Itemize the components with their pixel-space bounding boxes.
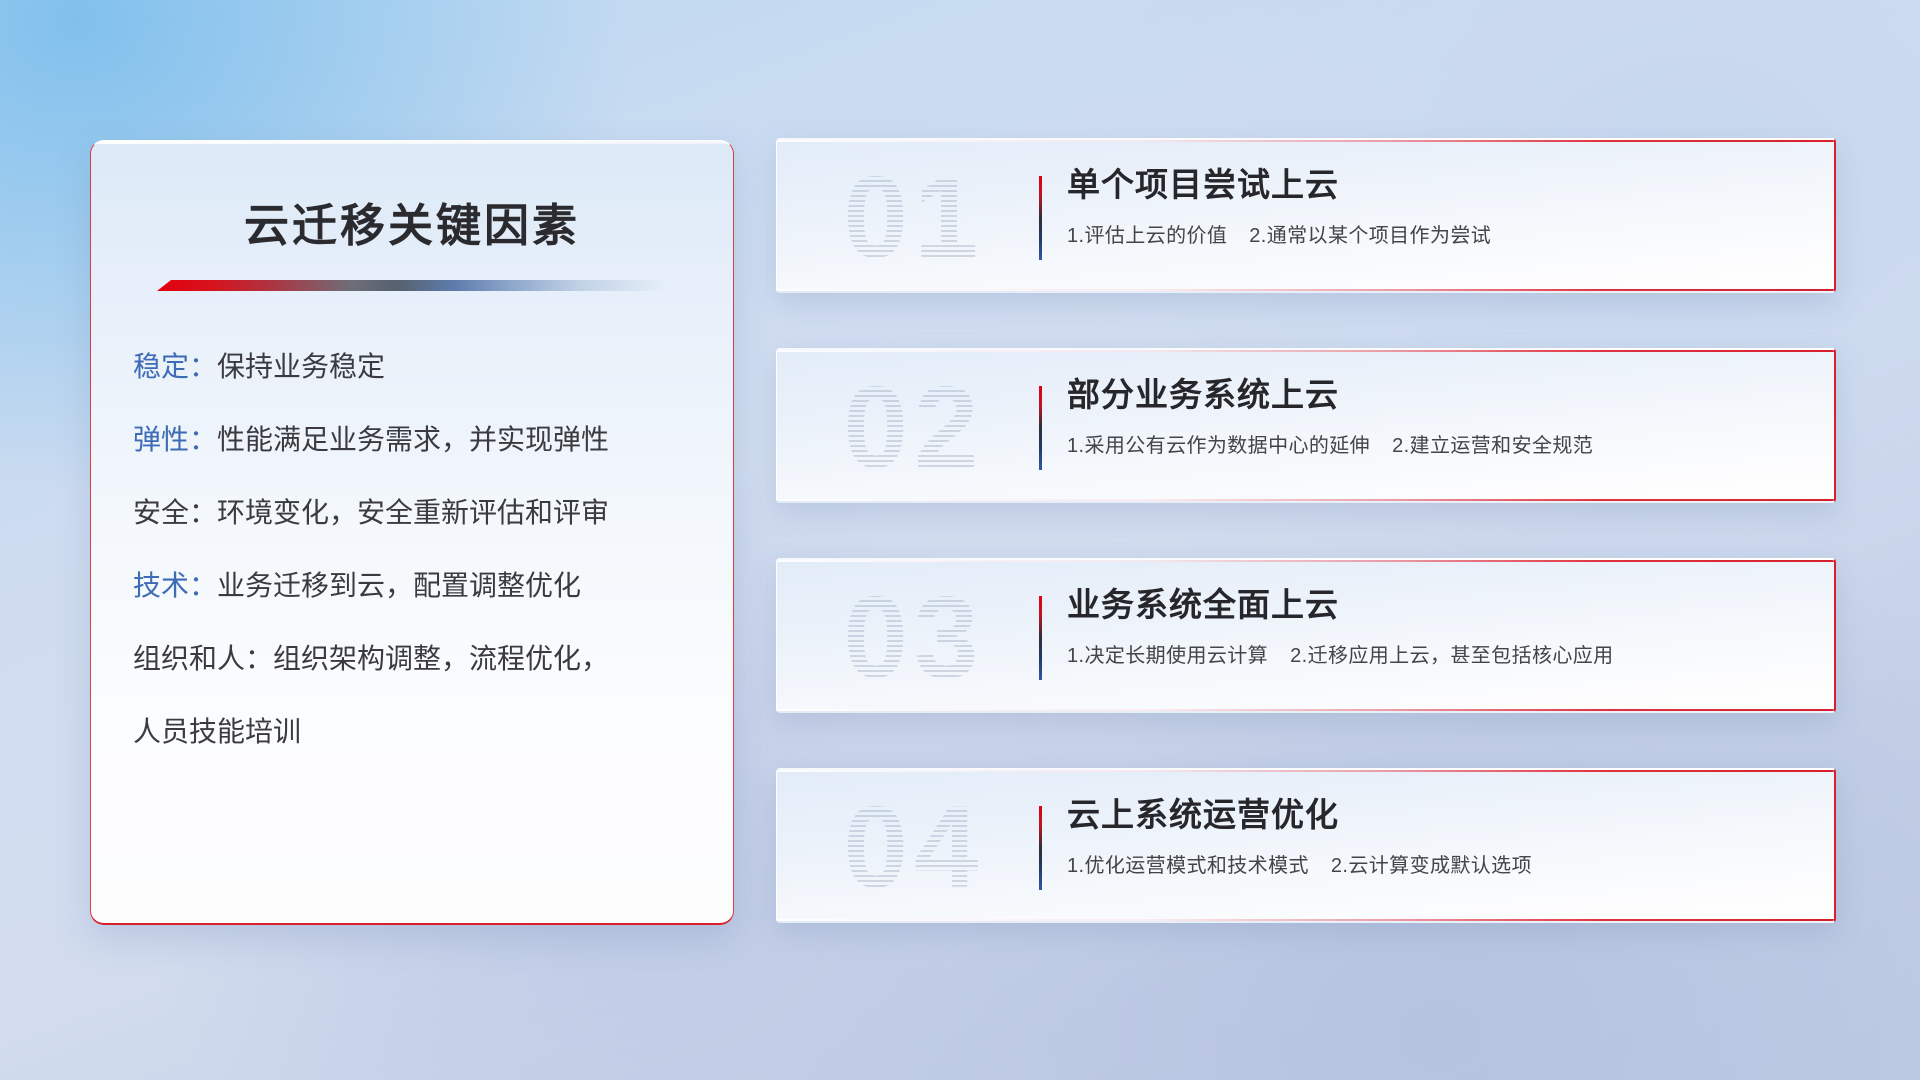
card-sub-item: 1.评估上云的价值 [1067, 225, 1227, 247]
card-sub-item: 1.决定长期使用云计算 [1067, 645, 1268, 667]
factor-item: 弹性：性能满足业务需求，并实现弹性 [133, 426, 733, 454]
card-subtitle: 1.评估上云的价值2.通常以某个项目作为尝试 [1067, 219, 1804, 248]
card-sub-item: 2.云计算变成默认选项 [1331, 855, 1532, 877]
factor-item: 组织和人：组织架构调整，流程优化， [133, 645, 733, 673]
stage-number-watermark: 04 [799, 780, 1029, 915]
factor-item: 人员技能培训 [133, 718, 733, 746]
factor-key: 组织和人： [133, 643, 273, 674]
stage-card[interactable]: 02部分业务系统上云1.采用公有云作为数据中心的延伸2.建立运营和安全规范 [776, 348, 1836, 503]
card-body: 业务系统全面上云1.决定长期使用云计算2.迁移应用上云，甚至包括核心应用 [1067, 584, 1804, 668]
card-subtitle: 1.决定长期使用云计算2.迁移应用上云，甚至包括核心应用 [1067, 639, 1804, 668]
card-accent-divider [1039, 806, 1042, 890]
card-sub-item: 1.优化运营模式和技术模式 [1067, 855, 1309, 877]
card-body: 云上系统运营优化1.优化运营模式和技术模式2.云计算变成默认选项 [1067, 794, 1804, 878]
slide-canvas: 云迁移关键因素 稳定：保持业务稳定弹性：性能满足业务需求，并实现弹性安全：环境变… [0, 0, 1920, 1080]
factor-value: 业务迁移到云，配置调整优化 [217, 570, 581, 601]
title-underline-gradient [157, 280, 667, 291]
factor-item: 稳定：保持业务稳定 [133, 353, 733, 381]
card-accent-divider [1039, 386, 1042, 470]
factor-key: 稳定： [133, 351, 217, 382]
factor-key: 安全： [133, 497, 217, 528]
card-title: 单个项目尝试上云 [1067, 164, 1804, 205]
title-underline [157, 280, 667, 291]
card-subtitle: 1.优化运营模式和技术模式2.云计算变成默认选项 [1067, 849, 1804, 878]
stage-card-list: 01单个项目尝试上云1.评估上云的价值2.通常以某个项目作为尝试02部分业务系统… [776, 138, 1836, 923]
panel-title: 云迁移关键因素 [91, 189, 733, 254]
stage-card[interactable]: 04云上系统运营优化1.优化运营模式和技术模式2.云计算变成默认选项 [776, 768, 1836, 923]
factor-value: 保持业务稳定 [217, 351, 385, 382]
card-title: 业务系统全面上云 [1067, 584, 1804, 625]
card-sub-item: 1.采用公有云作为数据中心的延伸 [1067, 435, 1370, 457]
factor-item: 安全：环境变化，安全重新评估和评审 [133, 499, 733, 527]
card-subtitle: 1.采用公有云作为数据中心的延伸2.建立运营和安全规范 [1067, 429, 1804, 458]
stage-card[interactable]: 01单个项目尝试上云1.评估上云的价值2.通常以某个项目作为尝试 [776, 138, 1836, 293]
factor-key: 弹性： [133, 424, 217, 455]
stage-number-watermark: 02 [799, 360, 1029, 495]
card-body: 部分业务系统上云1.采用公有云作为数据中心的延伸2.建立运营和安全规范 [1067, 374, 1804, 458]
key-factors-panel: 云迁移关键因素 稳定：保持业务稳定弹性：性能满足业务需求，并实现弹性安全：环境变… [90, 140, 734, 925]
stage-number-watermark: 03 [799, 570, 1029, 705]
stage-number-watermark: 01 [799, 150, 1029, 285]
factor-value: 性能满足业务需求，并实现弹性 [217, 424, 609, 455]
stage-card[interactable]: 03业务系统全面上云1.决定长期使用云计算2.迁移应用上云，甚至包括核心应用 [776, 558, 1836, 713]
card-title: 云上系统运营优化 [1067, 794, 1804, 835]
factor-value: 环境变化，安全重新评估和评审 [217, 497, 609, 528]
factor-key: 技术： [133, 570, 217, 601]
card-sub-item: 2.通常以某个项目作为尝试 [1249, 225, 1491, 247]
card-title: 部分业务系统上云 [1067, 374, 1804, 415]
factor-list: 稳定：保持业务稳定弹性：性能满足业务需求，并实现弹性安全：环境变化，安全重新评估… [133, 353, 733, 746]
factor-value: 人员技能培训 [133, 716, 301, 747]
card-accent-divider [1039, 176, 1042, 260]
card-sub-item: 2.迁移应用上云，甚至包括核心应用 [1290, 645, 1613, 667]
factor-item: 技术：业务迁移到云，配置调整优化 [133, 572, 733, 600]
factor-value: 组织架构调整，流程优化， [273, 643, 609, 674]
card-body: 单个项目尝试上云1.评估上云的价值2.通常以某个项目作为尝试 [1067, 164, 1804, 248]
card-sub-item: 2.建立运营和安全规范 [1392, 435, 1593, 457]
card-accent-divider [1039, 596, 1042, 680]
